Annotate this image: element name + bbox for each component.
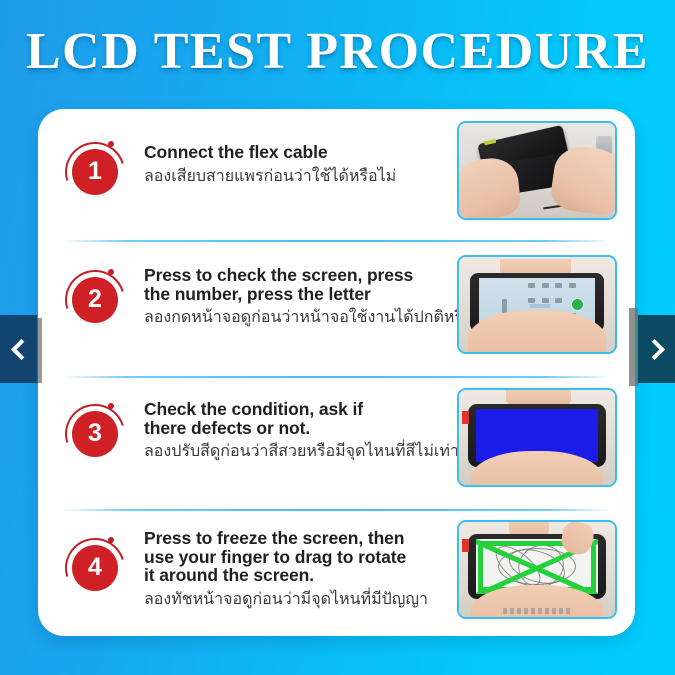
list-item[interactable]: 3 Check the condition, ask if there defe… [38,376,635,509]
prev-slide-button[interactable] [0,315,37,383]
slideshow-container: LCD TEST PROCEDURE 1 Connect the flex ca… [0,0,675,675]
step-text: Press to check the screen, press the num… [126,240,457,328]
step-number: 1 [88,159,102,186]
chevron-left-icon [10,338,31,359]
badge-circle: 2 [72,277,118,323]
photo-phone-dialer-keypad[interactable] [457,255,617,354]
badge-circle: 1 [72,149,118,195]
step-title-th: ลองปรับสีดูก่อนว่าสีสวยหรือมีจุดไหนที่สี… [144,442,449,462]
step-title-en: Press to check the screen, press the num… [144,266,449,303]
badge-dot-icon [108,141,114,147]
step-text: Connect the flex cable ลองเสียบสายแพรก่อ… [126,109,457,187]
badge-dot-icon [108,537,114,543]
badge-dot-icon [108,403,114,409]
photo-content [459,522,615,617]
photo-phone-touch-test[interactable] [457,520,617,619]
step-badge: 4 [64,537,126,599]
photo-phone-blue-screen[interactable] [457,388,617,487]
photo-content [459,123,615,218]
step-title-th: ลองเสียบสายแพรก่อนว่าใช้ได้หรือไม่ [144,167,449,187]
step-title-en: Check the condition, ask if there defect… [144,400,449,437]
page-title: LCD TEST PROCEDURE [0,22,675,81]
list-item[interactable]: 1 Connect the flex cable ลองเสียบสายแพรก… [38,109,635,240]
photo-content [459,257,615,352]
photo-content [459,390,615,485]
step-title-th: ลองทัชหน้าจอดูก่อนว่ามีจุดไหนที่มีปัญญา [144,590,449,610]
step-text: Press to freeze the screen, then use you… [126,509,457,610]
badge-circle: 3 [72,411,118,457]
step-badge: 3 [64,403,126,465]
step-number: 4 [88,555,102,582]
step-text: Check the condition, ask if there defect… [126,376,457,462]
step-badge: 2 [64,269,126,331]
badge-dot-icon [108,269,114,275]
step-title-en: Press to freeze the screen, then use you… [144,529,449,585]
list-item[interactable]: 4 Press to freeze the screen, then use y… [38,509,635,636]
step-number: 3 [88,421,102,448]
badge-circle: 4 [72,545,118,591]
procedure-card: 1 Connect the flex cable ลองเสียบสายแพรก… [38,109,635,636]
list-item[interactable]: 2 Press to check the screen, press the n… [38,240,635,376]
step-badge: 1 [64,141,126,203]
step-title-en: Connect the flex cable [144,143,449,162]
next-slide-button[interactable] [638,315,675,383]
steps-list: 1 Connect the flex cable ลองเสียบสายแพรก… [38,109,635,636]
step-title-th: ลองกดหน้าจอดูก่อนว่าหน้าจอใช้งานได้ปกติห… [144,308,449,328]
chevron-right-icon [643,338,664,359]
photo-flex-cable-connect[interactable] [457,121,617,220]
step-number: 2 [88,287,102,314]
